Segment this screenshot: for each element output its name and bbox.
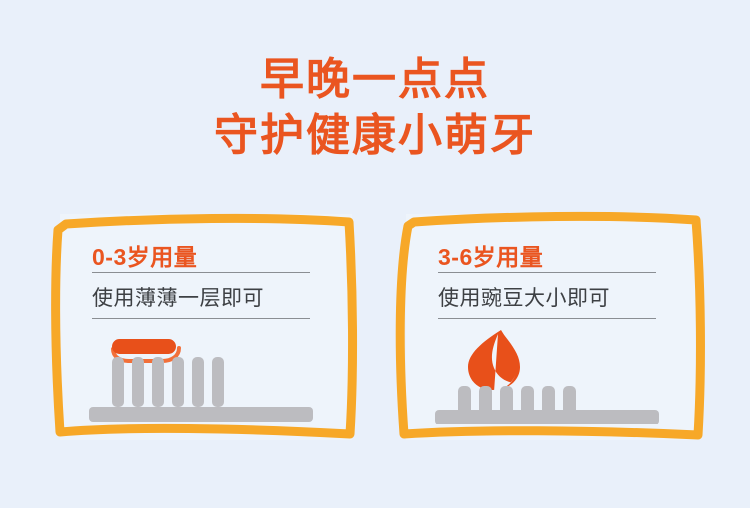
divider-bottom [438, 318, 656, 319]
card-heading-age-0-3: 0-3岁用量 [92, 238, 197, 272]
toothbrush-illustration-thin-smear [86, 328, 326, 424]
divider-bottom [92, 318, 310, 319]
thin-smear-icon [112, 339, 179, 361]
card-subtitle-age-3-6: 使用豌豆大小即可 [438, 282, 610, 312]
divider-top [92, 272, 310, 273]
bristles-group [112, 357, 224, 407]
page-title: 早晚一点点 守护健康小萌牙 [0, 52, 750, 165]
page-title-line-2: 守护健康小萌牙 [0, 108, 750, 164]
toothbrush-illustration-pea-drop [432, 328, 672, 424]
page-title-line-1: 早晚一点点 [0, 52, 750, 108]
brush-handle [435, 410, 659, 424]
pea-drop-icon [468, 330, 520, 393]
card-heading-age-3-6: 3-6岁用量 [438, 238, 543, 272]
dosage-card-age-0-3: 0-3岁用量 使用薄薄一层即可 [38, 200, 372, 458]
card-subtitle-age-0-3: 使用薄薄一层即可 [92, 282, 264, 312]
brush-handle [89, 407, 313, 422]
dosage-card-age-3-6: 3-6岁用量 使用豌豆大小即可 [384, 200, 718, 458]
divider-top [438, 272, 656, 273]
